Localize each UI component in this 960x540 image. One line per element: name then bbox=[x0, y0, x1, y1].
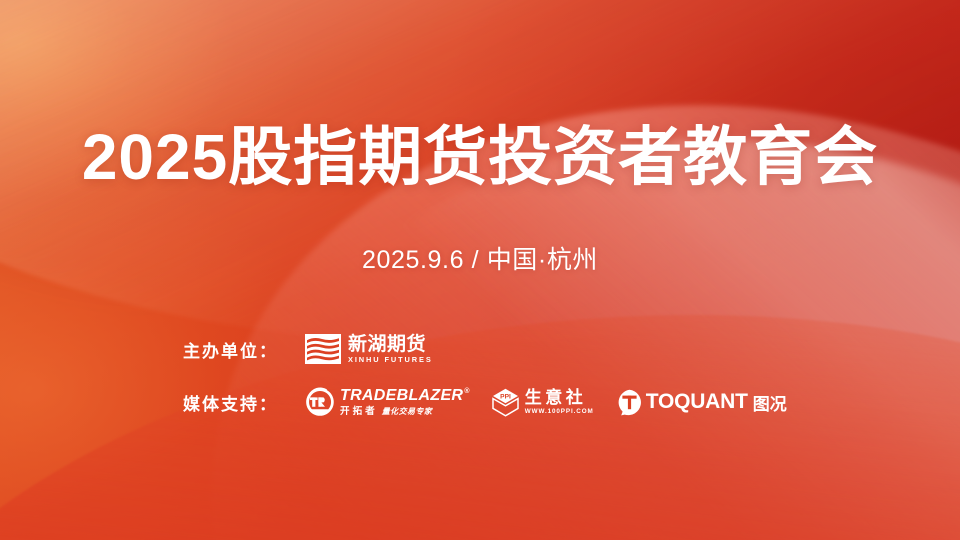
event-date-location: 2025.9.6 / 中国·杭州 bbox=[0, 240, 960, 276]
page-title: 2025股指期货投资者教育会 bbox=[0, 124, 960, 192]
host-logo-strip: 新湖期货 XINHU FUTURES bbox=[305, 334, 433, 364]
toquant-name-cn: 图况 bbox=[753, 390, 787, 415]
toquant-name-en: TOQUANT bbox=[646, 390, 748, 414]
tradeblazer-name-en-wrap: TRADEBLAZER ® bbox=[340, 388, 470, 404]
host-row: 主办单位： 新湖期货 XINHU FUTURES bbox=[183, 328, 823, 370]
toquant-circle-t-icon bbox=[616, 389, 643, 416]
xinhu-waves-icon bbox=[305, 334, 341, 364]
media-logo-strip: TRADEBLAZER ® 开拓者 量化交易专家 bbox=[305, 387, 787, 417]
logo-xinhu-futures[interactable]: 新湖期货 XINHU FUTURES bbox=[305, 334, 433, 364]
xinhu-name-en: XINHU FUTURES bbox=[348, 356, 433, 363]
media-label: 媒体支持： bbox=[183, 390, 305, 415]
tradeblazer-tb-icon bbox=[305, 387, 335, 417]
svg-text:PPI: PPI bbox=[500, 393, 511, 400]
xinhu-wordmark: 新湖期货 XINHU FUTURES bbox=[348, 335, 433, 364]
poster-content: 2025股指期货投资者教育会 2025.9.6 / 中国·杭州 主办单位： bbox=[0, 0, 960, 540]
logo-tradeblazer[interactable]: TRADEBLAZER ® 开拓者 量化交易专家 bbox=[305, 387, 470, 417]
xinhu-name-cn: 新湖期货 bbox=[348, 335, 433, 354]
tradeblazer-name-en: TRADEBLAZER bbox=[340, 388, 463, 404]
ppi-diamond-icon: PPI bbox=[492, 388, 519, 417]
shengyishe-name-cn: 生意社 bbox=[525, 389, 594, 406]
tradeblazer-trademark: ® bbox=[464, 388, 469, 395]
sponsor-section: 主办单位： 新湖期货 XINHU FUTURES bbox=[183, 328, 823, 423]
media-row: 媒体支持： bbox=[183, 381, 823, 423]
host-label: 主办单位： bbox=[183, 337, 305, 362]
logo-toquant[interactable]: TOQUANT 图况 bbox=[616, 389, 787, 416]
tradeblazer-wordmark: TRADEBLAZER ® 开拓者 量化交易专家 bbox=[340, 388, 470, 417]
tradeblazer-subline: 开拓者 量化交易专家 bbox=[340, 407, 470, 417]
poster-canvas: 2025股指期货投资者教育会 2025.9.6 / 中国·杭州 主办单位： bbox=[0, 0, 960, 540]
tradeblazer-name-cn: 开拓者 bbox=[340, 407, 378, 417]
logo-shengyishe[interactable]: PPI 生意社 WWW.100PPI.COM bbox=[492, 388, 594, 417]
tradeblazer-tagline: 量化交易专家 bbox=[382, 408, 432, 416]
shengyishe-url: WWW.100PPI.COM bbox=[525, 409, 594, 415]
ppi-wordmark: 生意社 WWW.100PPI.COM bbox=[525, 389, 594, 415]
